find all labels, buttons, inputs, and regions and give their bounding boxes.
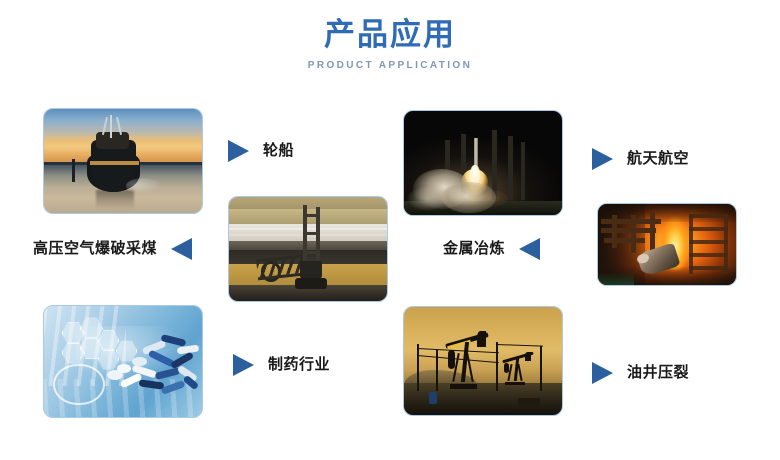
application-label-coal-mining: 高压空气爆破采煤 [33, 238, 192, 260]
pumpjack-background [502, 350, 534, 385]
triangle-left-icon [519, 238, 540, 260]
application-image-coal-mining [228, 196, 388, 302]
molten-metal-furnace-photo [598, 204, 736, 285]
application-label-oil-well-fracturing: 油井压裂 [592, 362, 689, 384]
open-pit-mining-excavator-photo [229, 197, 387, 301]
application-image-ship [43, 108, 203, 214]
application-image-metal-smelting [597, 203, 737, 286]
application-label-text: 金属冶炼 [443, 239, 505, 259]
rocket-launch-photo [404, 111, 562, 215]
application-label-ship: 轮船 [228, 140, 294, 162]
pumpjack-foreground [445, 329, 489, 389]
application-image-aerospace [403, 110, 563, 216]
triangle-right-icon [592, 362, 613, 384]
application-image-pharmaceutical [43, 305, 203, 418]
pharmaceutical-pills-photo [44, 306, 202, 417]
triangle-right-icon [233, 354, 254, 376]
application-label-metal-smelting: 金属冶炼 [443, 238, 540, 260]
triangle-right-icon [592, 148, 613, 170]
triangle-right-icon [228, 140, 249, 162]
triangle-left-icon [171, 238, 192, 260]
application-label-pharmaceutical: 制药行业 [233, 354, 330, 376]
application-label-text: 油井压裂 [627, 363, 689, 383]
application-image-oil-well-fracturing [403, 306, 563, 416]
ship-at-sunset-photo [44, 109, 202, 213]
oil-pumpjack-sunset-photo [404, 307, 562, 415]
product-application-section: 产品应用 PRODUCT APPLICATION 轮船 [0, 0, 780, 460]
application-label-text: 高压空气爆破采煤 [33, 239, 157, 259]
application-label-text: 轮船 [263, 141, 294, 161]
application-label-text: 制药行业 [268, 355, 330, 375]
page-title: 产品应用 [0, 16, 780, 54]
page-subtitle: PRODUCT APPLICATION [0, 59, 780, 73]
application-label-text: 航天航空 [627, 149, 689, 169]
application-label-aerospace: 航天航空 [592, 148, 689, 170]
